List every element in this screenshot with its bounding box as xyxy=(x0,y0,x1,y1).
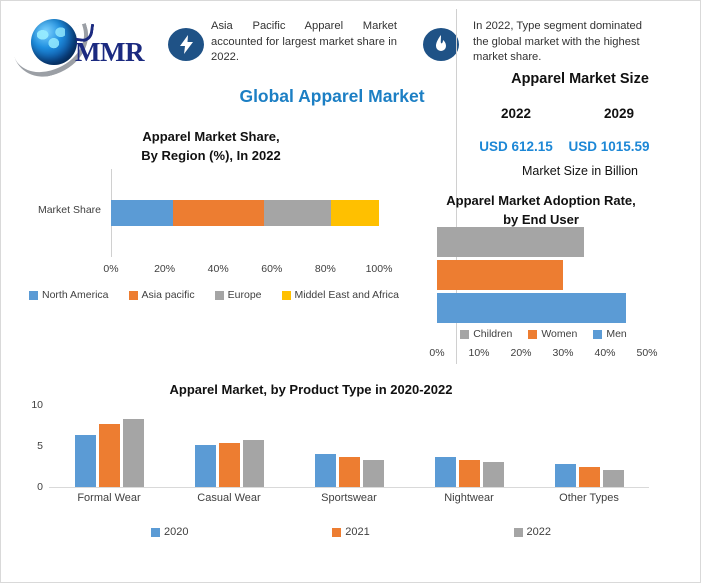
product-type-bar-group xyxy=(49,405,169,487)
product-type-bar xyxy=(315,454,336,487)
globe-icon xyxy=(31,19,77,65)
legend-label: North America xyxy=(42,289,109,301)
market-share-segment xyxy=(331,200,379,226)
legend-item[interactable]: 2020 xyxy=(151,526,188,538)
market-size-subtitle: Market Size in Billion xyxy=(469,164,691,178)
adoption-rate-chart-title-line1: Apparel Market Adoption Rate, xyxy=(421,191,661,210)
legend-swatch-icon xyxy=(460,330,469,339)
legend-swatch-icon xyxy=(151,528,160,537)
product-type-chart-title: Apparel Market, by Product Type in 2020-… xyxy=(81,382,541,397)
legend-item[interactable]: Europe xyxy=(215,289,262,301)
flame-icon xyxy=(423,28,459,61)
axis-category-label: Other Types xyxy=(529,492,649,504)
market-share-chart-title-line2: By Region (%), In 2022 xyxy=(61,146,361,165)
product-type-bar-group xyxy=(289,405,409,487)
legend-item[interactable]: 2021 xyxy=(332,526,369,538)
legend-label: Women xyxy=(541,328,577,340)
product-type-bar xyxy=(339,457,360,487)
axis-category-label: Formal Wear xyxy=(49,492,169,504)
product-type-bar-group xyxy=(169,405,289,487)
axis-tick-label: 80% xyxy=(315,263,336,275)
adoption-rate-bar xyxy=(437,227,584,257)
market-share-segment xyxy=(264,200,331,226)
legend-item[interactable]: Men xyxy=(593,328,626,340)
market-share-segment xyxy=(173,200,264,226)
legend-label: 2022 xyxy=(527,526,551,538)
product-type-legend: 202020212022 xyxy=(151,526,551,538)
product-type-plot-area xyxy=(49,405,649,487)
legend-item[interactable]: 2022 xyxy=(514,526,551,538)
product-type-baseline xyxy=(49,487,649,488)
axis-tick-label: 10% xyxy=(468,347,489,359)
product-type-bar xyxy=(603,470,624,487)
legend-item[interactable]: Women xyxy=(528,328,577,340)
product-type-bar xyxy=(555,464,576,487)
axis-category-label: Nightwear xyxy=(409,492,529,504)
axis-tick-label: 30% xyxy=(552,347,573,359)
axis-tick-label: 0 xyxy=(37,481,43,493)
page-title: Global Apparel Market xyxy=(187,86,477,107)
product-type-bar-group xyxy=(409,405,529,487)
legend-swatch-icon xyxy=(514,528,523,537)
axis-tick-label: 100% xyxy=(366,263,393,275)
axis-tick-label: 60% xyxy=(261,263,282,275)
legend-swatch-icon xyxy=(29,291,38,300)
adoption-rate-chart-title: Apparel Market Adoption Rate, by End Use… xyxy=(421,191,661,229)
product-type-bar-group xyxy=(529,405,649,487)
market-size-value-base: USD 612.15 xyxy=(466,139,566,154)
legend-label: Asia pacific xyxy=(142,289,195,301)
product-type-bar xyxy=(75,435,96,487)
axis-tick-label: 0% xyxy=(429,347,444,359)
market-size-value-forecast: USD 1015.59 xyxy=(559,139,659,154)
legend-swatch-icon xyxy=(282,291,291,300)
product-type-bar xyxy=(243,440,264,487)
logo-text: MMR xyxy=(75,37,144,68)
header-highlight-right-line2: the global market with the highest xyxy=(473,35,656,51)
axis-tick-label: 10 xyxy=(31,399,43,411)
legend-item[interactable]: North America xyxy=(29,289,109,301)
product-type-bar xyxy=(219,443,240,487)
market-size-title: Apparel Market Size xyxy=(469,71,691,87)
legend-label: 2021 xyxy=(345,526,369,538)
axis-tick-label: 0% xyxy=(103,263,118,275)
legend-item[interactable]: Children xyxy=(460,328,512,340)
legend-label: Children xyxy=(473,328,512,340)
infographic-page: MMR Asia Pacific Apparel Market accounte… xyxy=(0,0,701,583)
product-type-y-axis: 0510 xyxy=(9,405,43,487)
product-type-bar xyxy=(363,460,384,487)
legend-swatch-icon xyxy=(215,291,224,300)
product-type-bar xyxy=(195,445,216,487)
product-type-bar xyxy=(123,419,144,487)
header-highlight-left: Asia Pacific Apparel Market accounted fo… xyxy=(211,19,397,66)
header-highlight-right-line3: market share. xyxy=(473,50,656,66)
legend-item[interactable]: Middel East and Africa xyxy=(282,289,399,301)
axis-category-label: Casual Wear xyxy=(169,492,289,504)
legend-swatch-icon xyxy=(129,291,138,300)
adoption-rate-bar xyxy=(437,293,626,323)
lightning-bolt-icon xyxy=(168,28,204,61)
market-share-segment xyxy=(111,200,173,226)
axis-tick-label: 50% xyxy=(636,347,657,359)
legend-swatch-icon xyxy=(332,528,341,537)
adoption-rate-plot-area xyxy=(437,227,647,325)
legend-swatch-icon xyxy=(528,330,537,339)
legend-label: Middel East and Africa xyxy=(295,289,399,301)
product-type-bar xyxy=(99,424,120,487)
market-share-plot-area xyxy=(111,169,379,257)
product-type-bar xyxy=(459,460,480,487)
axis-tick-label: 40% xyxy=(208,263,229,275)
adoption-rate-bar xyxy=(437,260,563,290)
market-size-year-base: 2022 xyxy=(471,106,561,121)
product-type-bar xyxy=(483,462,504,487)
header-highlight-right: In 2022, Type segment dominated the glob… xyxy=(473,19,656,66)
product-type-bar xyxy=(435,457,456,487)
legend-label: Men xyxy=(606,328,626,340)
product-type-x-axis-labels: Formal WearCasual WearSportswearNightwea… xyxy=(49,492,649,504)
adoption-rate-x-axis-ticks: 0%10%20%30%40%50% xyxy=(421,347,671,361)
axis-tick-label: 40% xyxy=(594,347,615,359)
market-share-x-axis-ticks: 0%20%40%60%80%100% xyxy=(86,263,416,277)
adoption-rate-legend: ChildrenWomenMen xyxy=(431,328,656,340)
market-share-chart-title-line1: Apparel Market Share, xyxy=(61,127,361,146)
axis-category-label: Sportswear xyxy=(289,492,409,504)
product-type-bar xyxy=(579,467,600,487)
header-highlight-right-line1: In 2022, Type segment dominated xyxy=(473,19,656,35)
axis-tick-label: 20% xyxy=(154,263,175,275)
axis-tick-label: 5 xyxy=(37,440,43,452)
legend-label: Europe xyxy=(228,289,262,301)
axis-tick-label: 20% xyxy=(510,347,531,359)
market-share-stacked-bar xyxy=(111,200,379,226)
legend-item[interactable]: Asia pacific xyxy=(129,289,195,301)
market-share-category-label: Market Share xyxy=(13,204,101,216)
market-share-legend: North AmericaAsia pacificEuropeMiddel Ea… xyxy=(29,289,399,301)
market-size-year-forecast: 2029 xyxy=(574,106,664,121)
legend-swatch-icon xyxy=(593,330,602,339)
market-share-chart-title: Apparel Market Share, By Region (%), In … xyxy=(61,127,361,165)
legend-label: 2020 xyxy=(164,526,188,538)
mmr-logo: MMR xyxy=(13,15,163,77)
